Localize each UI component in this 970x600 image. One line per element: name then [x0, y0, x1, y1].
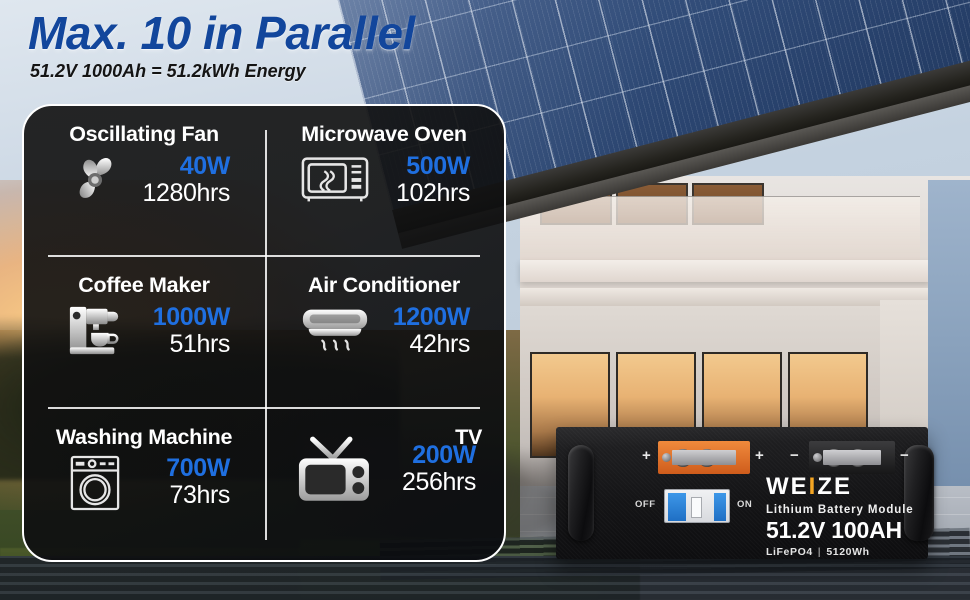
appliance-cell-air-conditioner: Air Conditioner [264, 257, 504, 408]
module-label: Lithium Battery Module [766, 504, 926, 516]
appliance-hours: 42hrs [378, 331, 470, 359]
logo-lightning-icon: I [809, 475, 818, 499]
balcony-slab [520, 260, 930, 282]
positive-sign: + [642, 447, 651, 464]
weize-logo: WE I ZE [766, 475, 926, 499]
battery-spec: 51.2V 100AH [766, 518, 926, 542]
battery-module: + + − − OFF ON WE I ZE Lithium Battery M… [556, 427, 928, 559]
appliance-watts: 1000W [138, 304, 230, 331]
page-title: Max. 10 in Parallel [28, 6, 415, 60]
logo-part-ze: ZE [817, 475, 852, 499]
appliance-runtime-panel: Oscillating Fan [22, 104, 506, 562]
appliance-hours: 73hrs [138, 482, 230, 510]
appliance-hours: 1280hrs [138, 180, 230, 208]
appliance-name: Microwave Oven [276, 122, 492, 147]
battery-handle-left [568, 445, 594, 541]
coffee-maker-icon [58, 300, 132, 362]
soffit [520, 288, 940, 308]
appliance-cell-oscillating-fan: Oscillating Fan [24, 106, 264, 257]
positive-sign: + [755, 447, 764, 464]
appliance-cell-microwave-oven: Microwave Oven 500W 102hrs [264, 106, 504, 257]
negative-sign: − [900, 447, 909, 464]
washing-machine-icon [58, 452, 132, 514]
appliance-hours: 102hrs [378, 180, 470, 208]
positive-terminal [658, 441, 750, 474]
chemistry: LiFePO4 [766, 546, 813, 558]
negative-terminal [809, 441, 895, 474]
appliance-name: Air Conditioner [276, 273, 492, 298]
microwave-icon [298, 149, 372, 211]
horizontal-divider [48, 255, 480, 257]
appliance-name: Oscillating Fan [36, 122, 252, 147]
negative-sign: − [790, 447, 799, 464]
power-breaker-switch[interactable] [664, 489, 730, 523]
tv-icon [292, 434, 378, 506]
slat-fence [0, 556, 970, 600]
appliance-hours: 256hrs [384, 469, 476, 497]
appliance-cell-coffee-maker: Coffee Maker [24, 257, 264, 408]
appliance-watts: 500W [378, 153, 470, 180]
appliance-hours: 51hrs [138, 331, 230, 359]
battery-label: WE I ZE Lithium Battery Module 51.2V 100… [766, 475, 926, 558]
air-conditioner-icon [298, 300, 372, 362]
energy-capacity: 5120Wh [826, 546, 869, 558]
battery-chemistry-line: LiFePO4|5120Wh [766, 546, 926, 558]
appliance-cell-washing-machine: Washing Machine 700W [24, 409, 264, 560]
horizontal-divider [48, 407, 480, 409]
switch-off-label: OFF [635, 499, 656, 510]
appliance-watts: 40W [138, 153, 230, 180]
appliance-watts: 1200W [378, 304, 470, 331]
logo-part-we: WE [766, 475, 809, 499]
appliance-watts: 700W [138, 455, 230, 482]
switch-on-label: ON [737, 499, 752, 510]
appliance-name: Washing Machine [36, 425, 252, 450]
separator: | [818, 546, 822, 558]
appliance-watts: 200W [384, 442, 476, 469]
fan-icon [58, 149, 132, 211]
appliance-cell-tv: TV [264, 409, 504, 560]
appliance-name: Coffee Maker [36, 273, 252, 298]
page-subtitle: 51.2V 1000Ah = 51.2kWh Energy [30, 61, 306, 82]
vertical-divider [265, 130, 267, 540]
